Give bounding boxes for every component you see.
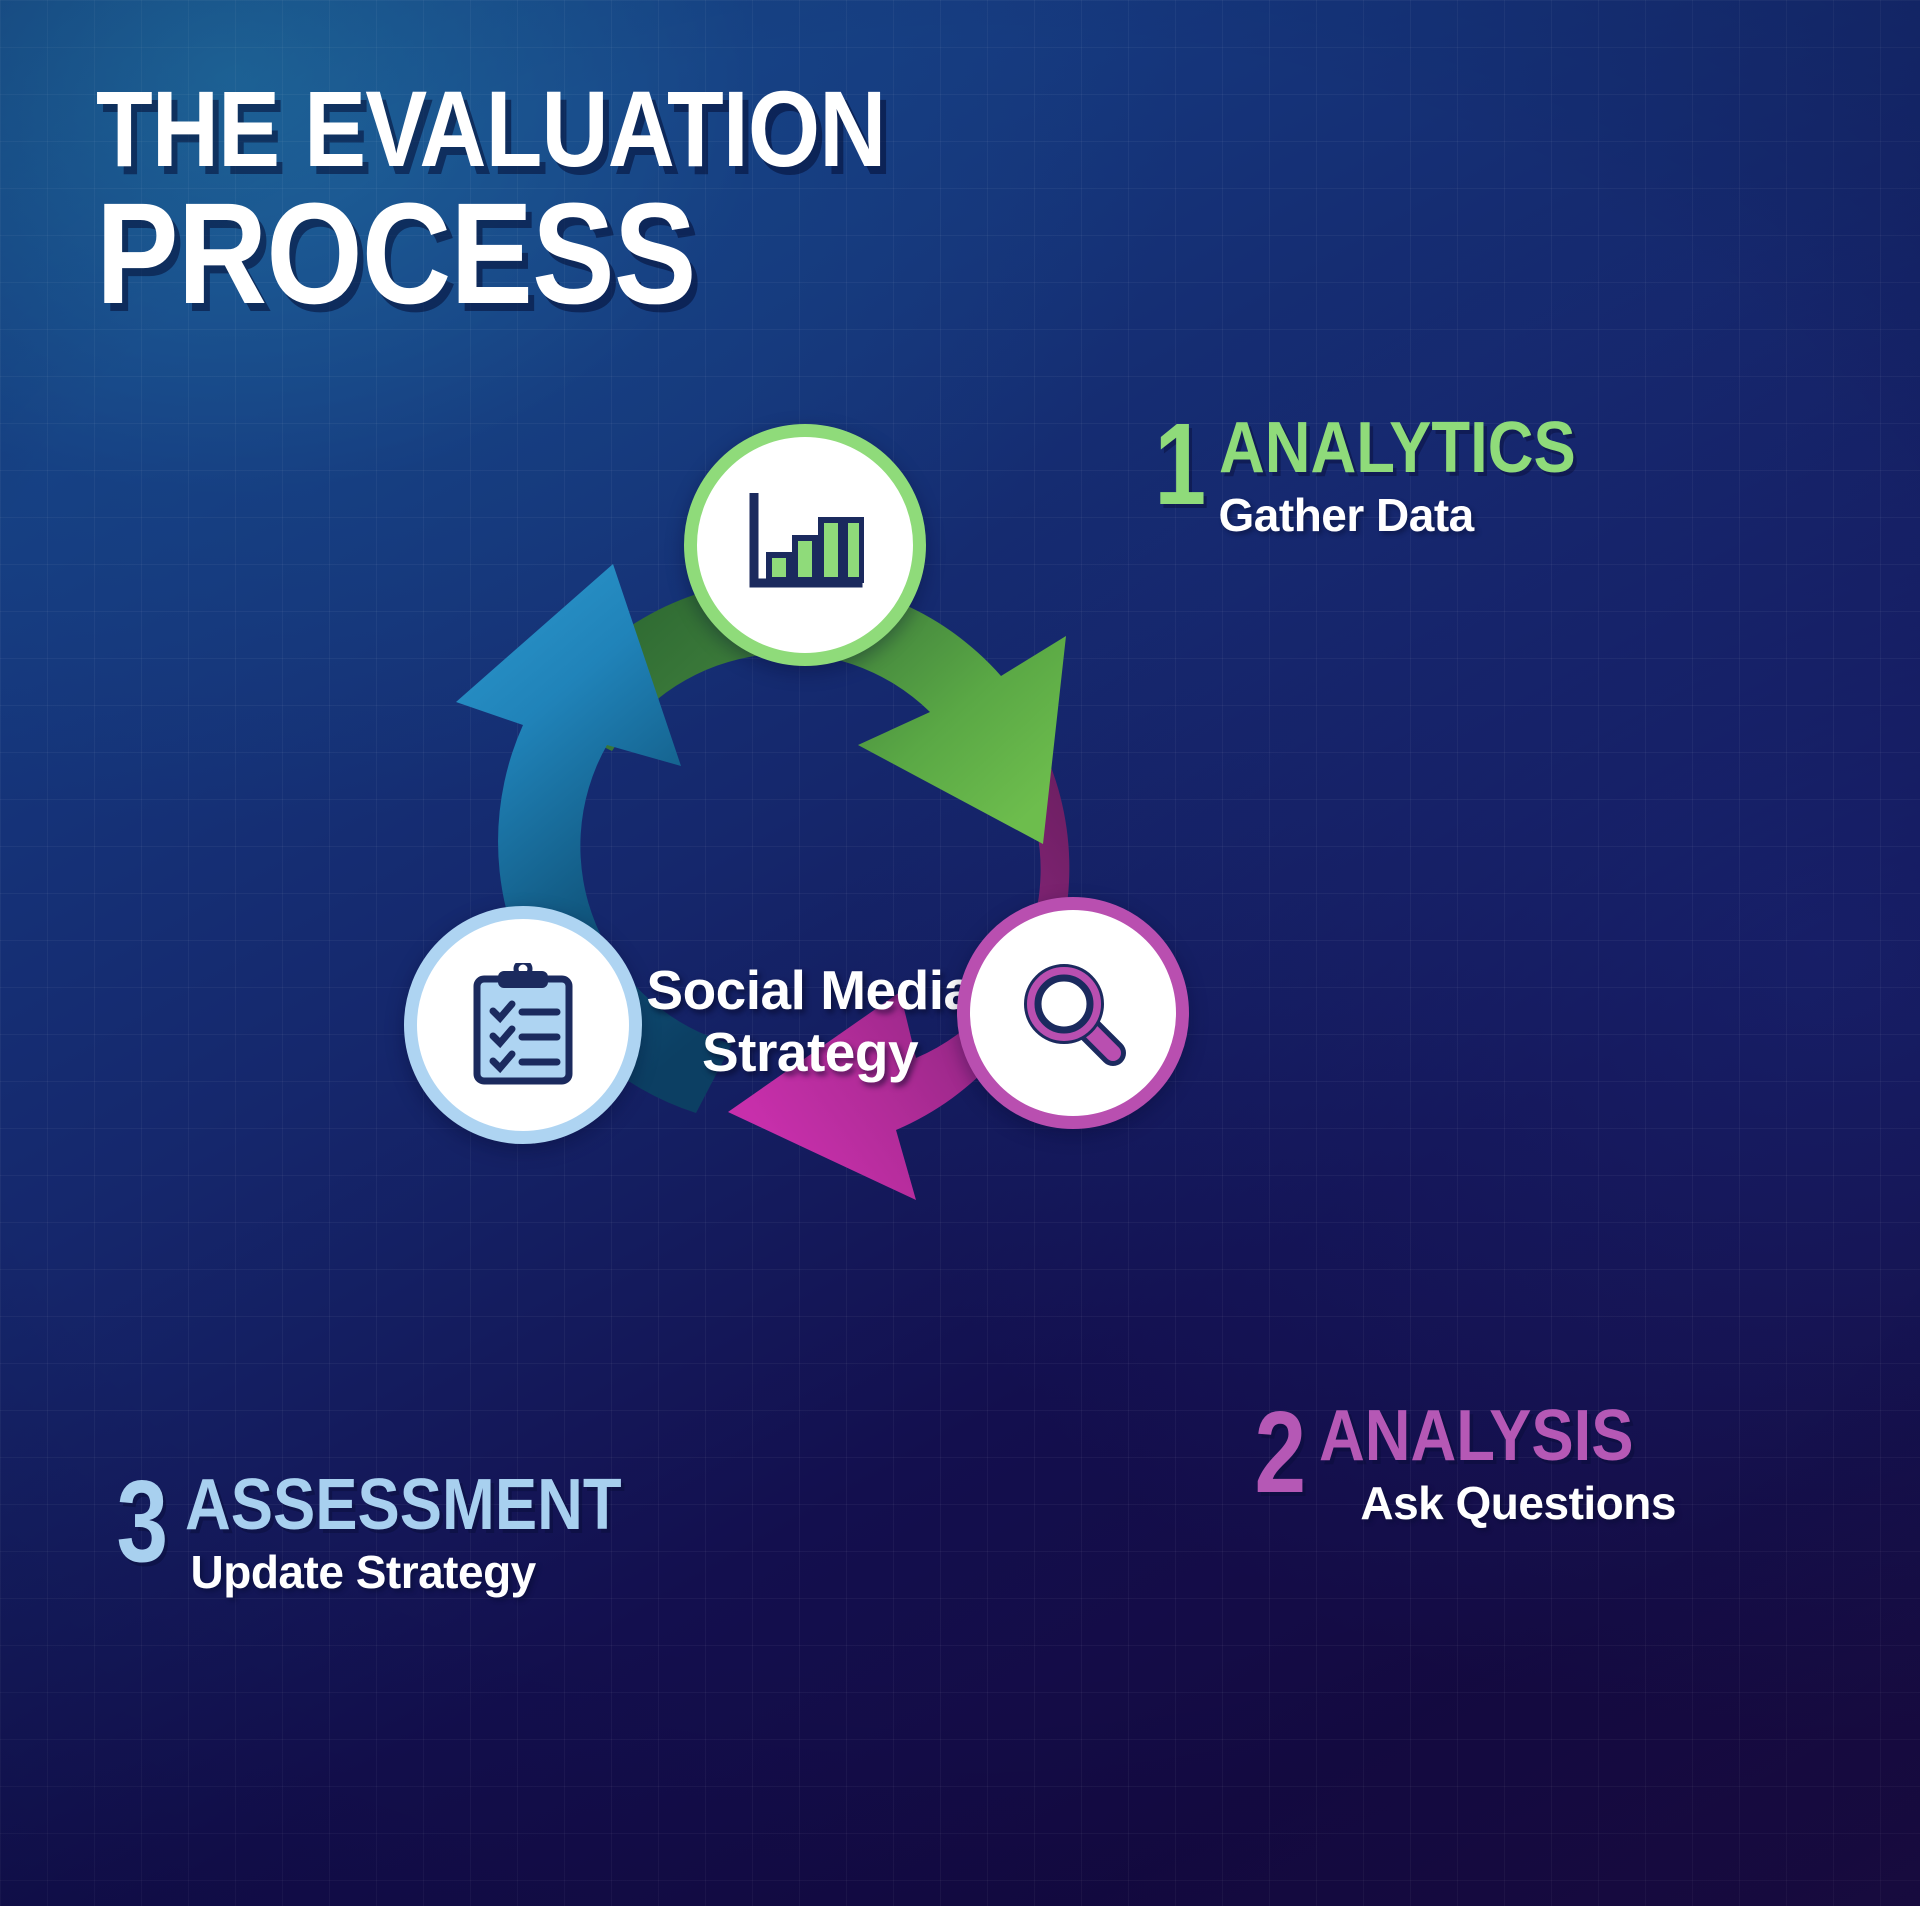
step-subtitle-assessment: Update Strategy: [191, 1548, 681, 1596]
analysis-icon-bubble[interactable]: [957, 897, 1189, 1129]
step-label-analysis: 2 ANALYSIS Ask Questions: [1248, 1403, 1676, 1528]
assessment-icon-bubble[interactable]: [404, 906, 642, 1144]
step-heading-assessment: ASSESSMENT: [185, 1472, 622, 1538]
step-number-1: 1: [1154, 415, 1206, 515]
page-title: THE EVALUATION PROCESS: [96, 78, 1014, 321]
page-title-line-2: PROCESS: [96, 186, 885, 321]
step-number-2: 2: [1254, 1403, 1306, 1503]
step-label-assessment: 3 ASSESSMENT Update Strategy: [110, 1472, 681, 1597]
magnifying-glass-icon: [1017, 957, 1129, 1069]
step-heading-analysis: ANALYSIS: [1319, 1403, 1634, 1469]
page-title-line-1: THE EVALUATION: [96, 78, 885, 180]
infographic-canvas: THE EVALUATION PROCESS: [0, 0, 1920, 1906]
step-subtitle-analysis: Ask Questions: [1319, 1479, 1676, 1527]
clipboard-checklist-icon: [471, 963, 575, 1087]
step-heading-analytics: ANALYTICS: [1219, 415, 1576, 481]
step-number-3: 3: [116, 1472, 168, 1572]
bar-chart-icon: [746, 493, 864, 597]
step-subtitle-analytics: Gather Data: [1219, 491, 1624, 539]
analytics-icon-bubble[interactable]: [684, 424, 926, 666]
step-label-analytics: 1 ANALYTICS Gather Data: [1148, 415, 1624, 540]
